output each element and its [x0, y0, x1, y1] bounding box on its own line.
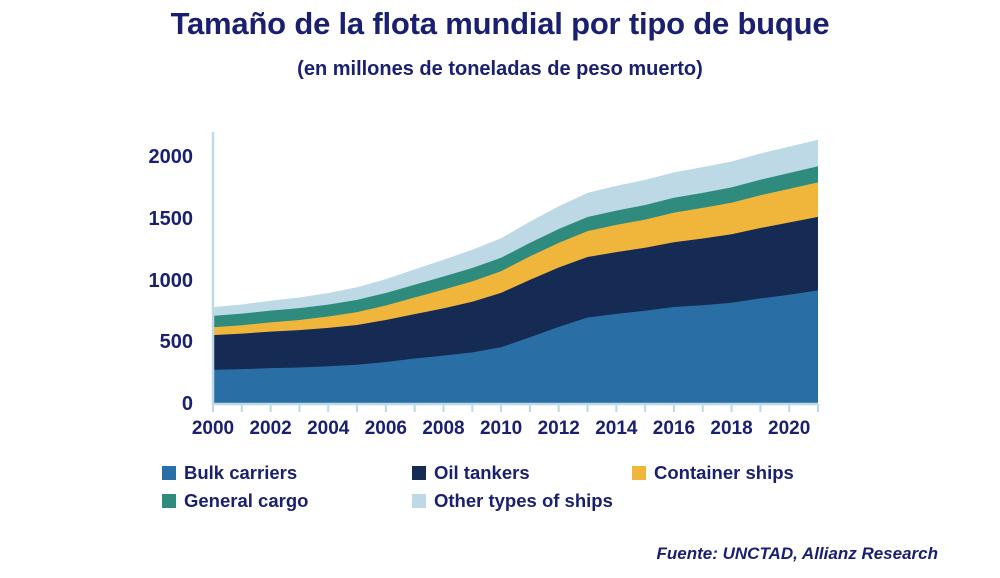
legend-swatch-icon	[412, 494, 426, 508]
legend-label: Bulk carriers	[184, 462, 297, 484]
legend-swatch-icon	[632, 466, 646, 480]
legend-label: Oil tankers	[434, 462, 530, 484]
y-tick-label: 2000	[123, 147, 193, 167]
x-tick-label: 2000	[181, 418, 245, 440]
legend-label: General cargo	[184, 490, 308, 512]
x-tick-label: 2012	[527, 418, 591, 440]
x-tick-label: 2002	[239, 418, 303, 440]
y-tick-label: 500	[123, 332, 193, 352]
source-note: Fuente: UNCTAD, Allianz Research	[657, 544, 939, 564]
x-tick-label: 2014	[584, 418, 648, 440]
legend-row-2: General cargo Other types of ships	[162, 490, 862, 512]
chart-legend: Bulk carriers Oil tankers Container ship…	[162, 462, 862, 518]
legend-item-general-cargo[interactable]: General cargo	[162, 490, 412, 512]
x-tick-label: 2006	[354, 418, 418, 440]
legend-item-bulk-carriers[interactable]: Bulk carriers	[162, 462, 412, 484]
legend-label: Container ships	[654, 462, 794, 484]
legend-row-1: Bulk carriers Oil tankers Container ship…	[162, 462, 862, 484]
x-tick-label: 2004	[296, 418, 360, 440]
legend-label: Other types of ships	[434, 490, 613, 512]
x-tick-label: 2018	[700, 418, 764, 440]
x-tick-label: 2020	[757, 418, 821, 440]
y-tick-label: 1500	[123, 209, 193, 229]
legend-swatch-icon	[162, 466, 176, 480]
legend-swatch-icon	[162, 494, 176, 508]
legend-swatch-icon	[412, 466, 426, 480]
legend-item-oil-tankers[interactable]: Oil tankers	[412, 462, 632, 484]
x-tick-label: 2016	[642, 418, 706, 440]
legend-item-container-ships[interactable]: Container ships	[632, 462, 862, 484]
x-tick-label: 2008	[411, 418, 475, 440]
y-tick-label: 0	[123, 394, 193, 414]
legend-item-other-types-of-ships[interactable]: Other types of ships	[412, 490, 632, 512]
y-tick-label: 1000	[123, 271, 193, 291]
x-tick-label: 2010	[469, 418, 533, 440]
